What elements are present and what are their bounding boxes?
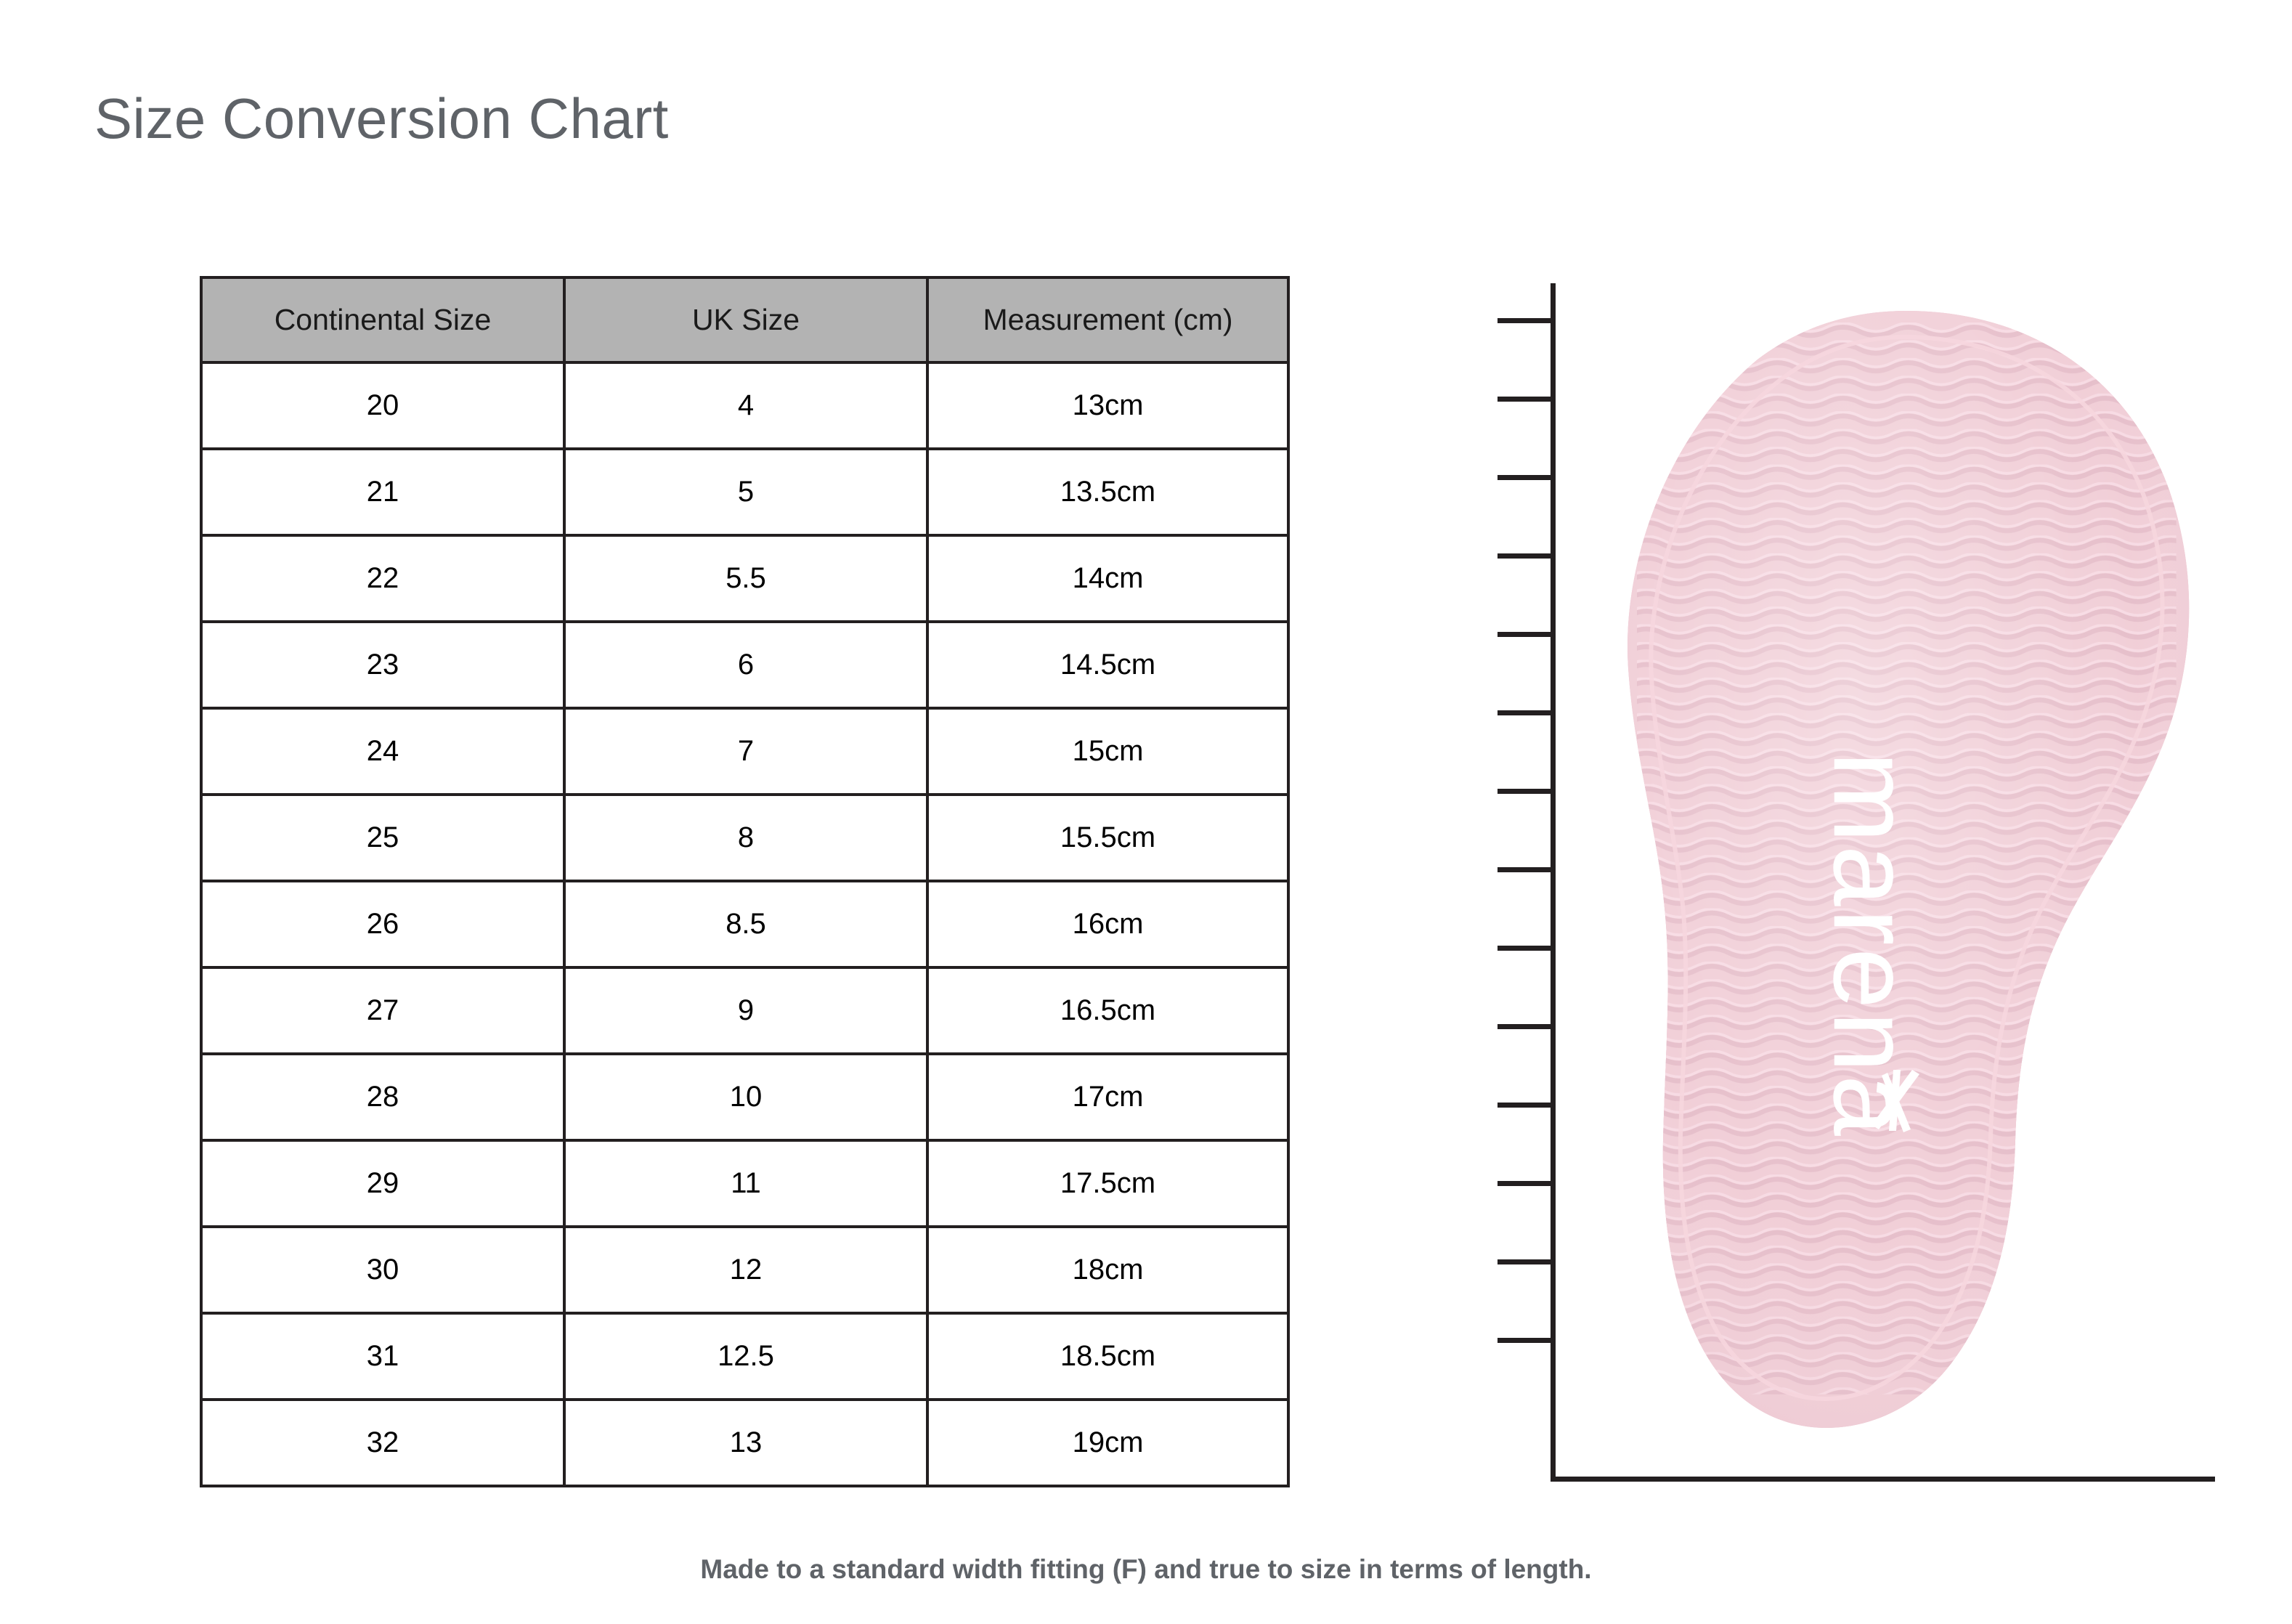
cell-measurement: 14.5cm — [927, 622, 1288, 708]
cell-continental-size: 27 — [201, 967, 564, 1054]
size-conversion-table: Continental Size UK Size Measurement (cm… — [200, 276, 1290, 1487]
cell-continental-size: 31 — [201, 1313, 564, 1400]
ruler-tick — [1497, 1259, 1556, 1264]
table-row: 301218cm — [201, 1227, 1288, 1313]
cell-uk-size: 13 — [564, 1400, 927, 1486]
table-header-row: Continental Size UK Size Measurement (cm… — [201, 277, 1288, 362]
ruler-tick — [1497, 1103, 1556, 1108]
cell-measurement: 15.5cm — [927, 795, 1288, 881]
ruler-tick — [1497, 1024, 1556, 1029]
cell-continental-size: 23 — [201, 622, 564, 708]
cell-continental-size: 29 — [201, 1140, 564, 1227]
ruler-vertical-axis — [1551, 283, 1556, 1482]
cell-uk-size: 12.5 — [564, 1313, 927, 1400]
cell-measurement: 16.5cm — [927, 967, 1288, 1054]
table-row: 3112.518.5cm — [201, 1313, 1288, 1400]
cell-uk-size: 9 — [564, 967, 927, 1054]
table-row: 225.514cm — [201, 535, 1288, 622]
table-row: 25815.5cm — [201, 795, 1288, 881]
cell-continental-size: 24 — [201, 708, 564, 795]
table-row: 23614.5cm — [201, 622, 1288, 708]
table-row: 281017cm — [201, 1054, 1288, 1140]
cell-measurement: 15cm — [927, 708, 1288, 795]
column-header-measurement: Measurement (cm) — [927, 277, 1288, 362]
cell-measurement: 13cm — [927, 362, 1288, 449]
page-title: Size Conversion Chart — [94, 86, 669, 152]
size-chart-page: Size Conversion Chart Continental Size U… — [0, 0, 2292, 1624]
cell-measurement: 18.5cm — [927, 1313, 1288, 1400]
cell-uk-size: 10 — [564, 1054, 927, 1140]
ruler-tick — [1497, 553, 1556, 559]
table-row: 321319cm — [201, 1400, 1288, 1486]
cell-continental-size: 21 — [201, 449, 564, 535]
table-row: 21513.5cm — [201, 449, 1288, 535]
cell-measurement: 16cm — [927, 881, 1288, 967]
ruler-horizontal-baseline — [1551, 1477, 2215, 1482]
cell-measurement: 13.5cm — [927, 449, 1288, 535]
cell-uk-size: 8.5 — [564, 881, 927, 967]
table-row: 268.516cm — [201, 881, 1288, 967]
cell-continental-size: 22 — [201, 535, 564, 622]
cell-continental-size: 20 — [201, 362, 564, 449]
cell-uk-size: 8 — [564, 795, 927, 881]
shoe-sole-illustration — [1620, 305, 2193, 1445]
ruler-tick — [1497, 632, 1556, 637]
cell-uk-size: 5.5 — [564, 535, 927, 622]
table-row: 27916.5cm — [201, 967, 1288, 1054]
table-row: 291117.5cm — [201, 1140, 1288, 1227]
column-header-uk-size: UK Size — [564, 277, 927, 362]
cell-uk-size: 4 — [564, 362, 927, 449]
ruler-tick — [1497, 397, 1556, 402]
ruler-tick — [1497, 710, 1556, 715]
ruler-tick — [1497, 1338, 1556, 1343]
cell-measurement: 17cm — [927, 1054, 1288, 1140]
ruler-tick — [1497, 946, 1556, 951]
cell-continental-size: 28 — [201, 1054, 564, 1140]
cell-uk-size: 5 — [564, 449, 927, 535]
footer-note: Made to a standard width fitting (F) and… — [0, 1554, 2292, 1585]
cell-continental-size: 30 — [201, 1227, 564, 1313]
cell-continental-size: 26 — [201, 881, 564, 967]
cell-measurement: 14cm — [927, 535, 1288, 622]
column-header-continental-size: Continental Size — [201, 277, 564, 362]
cell-uk-size: 6 — [564, 622, 927, 708]
cell-measurement: 17.5cm — [927, 1140, 1288, 1227]
cell-uk-size: 11 — [564, 1140, 927, 1227]
cell-uk-size: 7 — [564, 708, 927, 795]
ruler-tick — [1497, 1181, 1556, 1186]
ruler-tick — [1497, 867, 1556, 872]
cell-continental-size: 25 — [201, 795, 564, 881]
table-body: 20413cm21513.5cm225.514cm23614.5cm24715c… — [201, 362, 1288, 1486]
table-row: 24715cm — [201, 708, 1288, 795]
ruler-tick — [1497, 475, 1556, 480]
table-row: 20413cm — [201, 362, 1288, 449]
ruler-tick — [1497, 789, 1556, 794]
cell-uk-size: 12 — [564, 1227, 927, 1313]
cell-measurement: 18cm — [927, 1227, 1288, 1313]
cell-measurement: 19cm — [927, 1400, 1288, 1486]
cell-continental-size: 32 — [201, 1400, 564, 1486]
ruler-tick — [1497, 318, 1556, 323]
